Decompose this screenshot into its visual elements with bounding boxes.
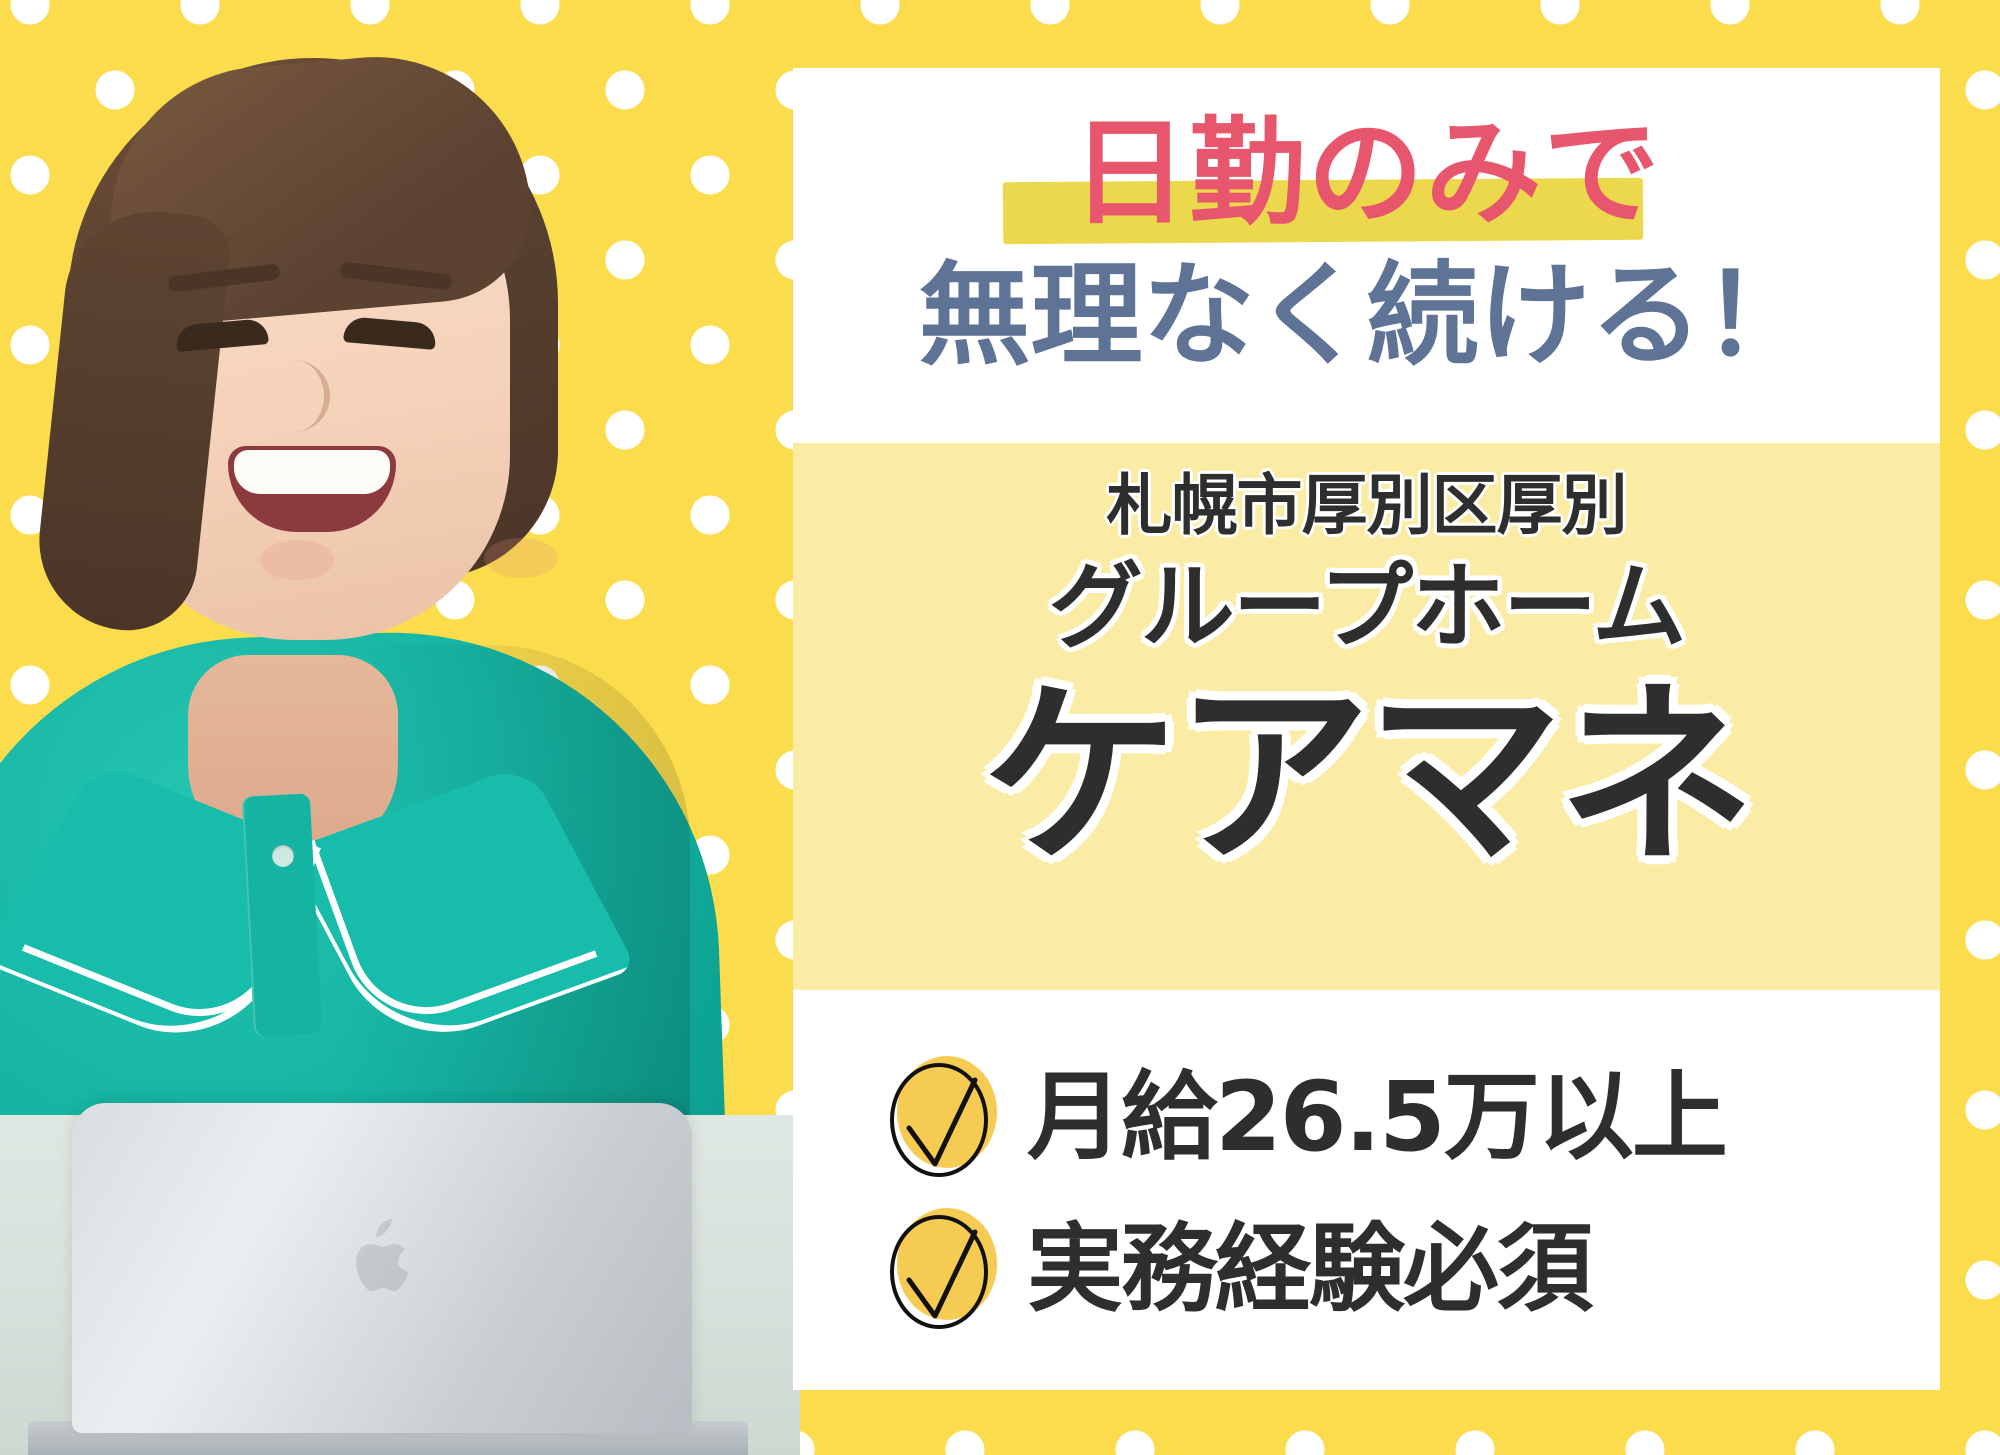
job-ad-poster: 日勤のみで 無理なく続ける！ 札幌市厚別区厚別 グループホーム ケアマネ (0, 0, 2000, 1455)
headline-section: 日勤のみで 無理なく続ける！ (793, 68, 1940, 443)
check-circle-icon (881, 1202, 1005, 1336)
job-title: ケアマネ (793, 679, 1940, 875)
benefit-label: 月給26.5万以上 (1027, 1069, 1726, 1165)
headline-line-2: 無理なく続ける！ (793, 260, 1940, 372)
shirt-placket (242, 793, 322, 1036)
headline-line-1: 日勤のみで (793, 116, 1940, 232)
check-circle-icon (881, 1050, 1005, 1184)
job-section: 札幌市厚別区厚別 グループホーム ケアマネ (793, 443, 1940, 990)
benefits-list: 月給26.5万以上 実務経験必須 (881, 1052, 1881, 1356)
benefits-section: 月給26.5万以上 実務経験必須 (793, 990, 1940, 1390)
cheek-left (260, 540, 334, 580)
care-worker-photo (0, 0, 800, 1455)
laptop-lid (72, 1103, 692, 1433)
list-item: 月給26.5万以上 (881, 1052, 1881, 1182)
info-card: 日勤のみで 無理なく続ける！ 札幌市厚別区厚別 グループホーム ケアマネ (793, 68, 1940, 1390)
list-item: 実務経験必須 (881, 1204, 1881, 1334)
cheek-right (484, 538, 558, 578)
job-facility-type: グループホーム (793, 561, 1940, 655)
apple-logo-icon (343, 1215, 421, 1307)
shirt-button (272, 845, 294, 867)
teeth (234, 450, 390, 494)
job-location: 札幌市厚別区厚別 (793, 473, 1940, 539)
benefit-label: 実務経験必須 (1027, 1221, 1591, 1317)
